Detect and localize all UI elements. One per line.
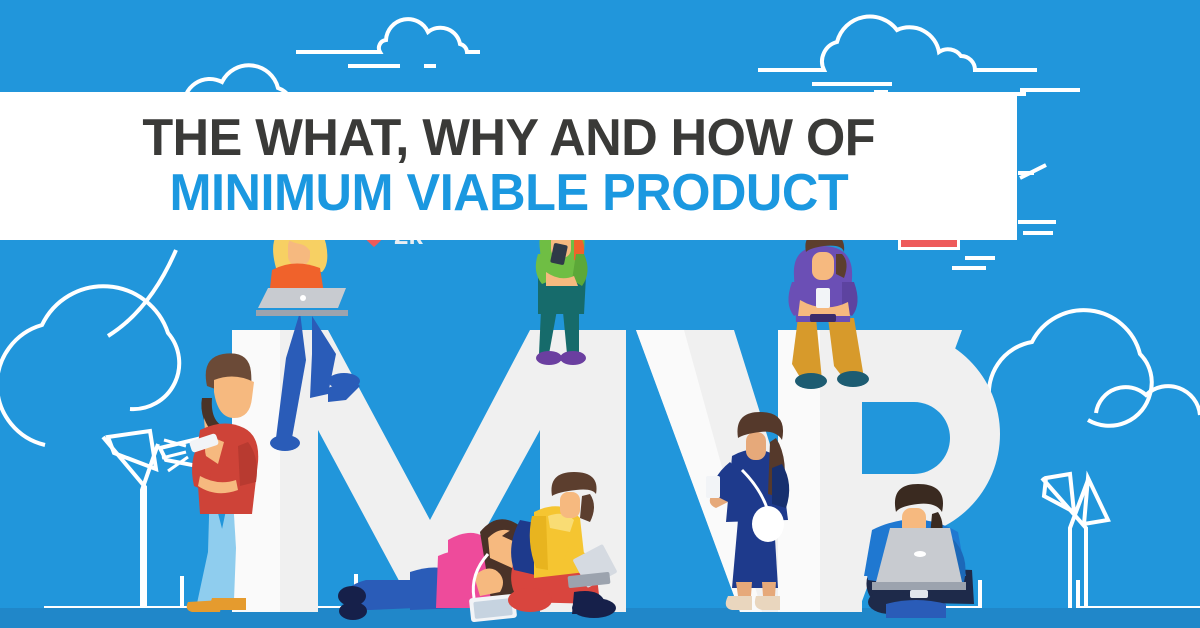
letter-m bbox=[232, 330, 626, 612]
title-line-2: MINIMUM VIABLE PRODUCT bbox=[169, 167, 848, 220]
letter-p bbox=[778, 330, 1000, 612]
poster-canvas: 2k THE WHAT, WHY AND HOW OF MINIMUM VIAB… bbox=[0, 0, 1200, 628]
title-line-1: THE WHAT, WHY AND HOW OF bbox=[142, 112, 875, 165]
title-banner: THE WHAT, WHY AND HOW OF MINIMUM VIABLE … bbox=[0, 92, 1017, 240]
